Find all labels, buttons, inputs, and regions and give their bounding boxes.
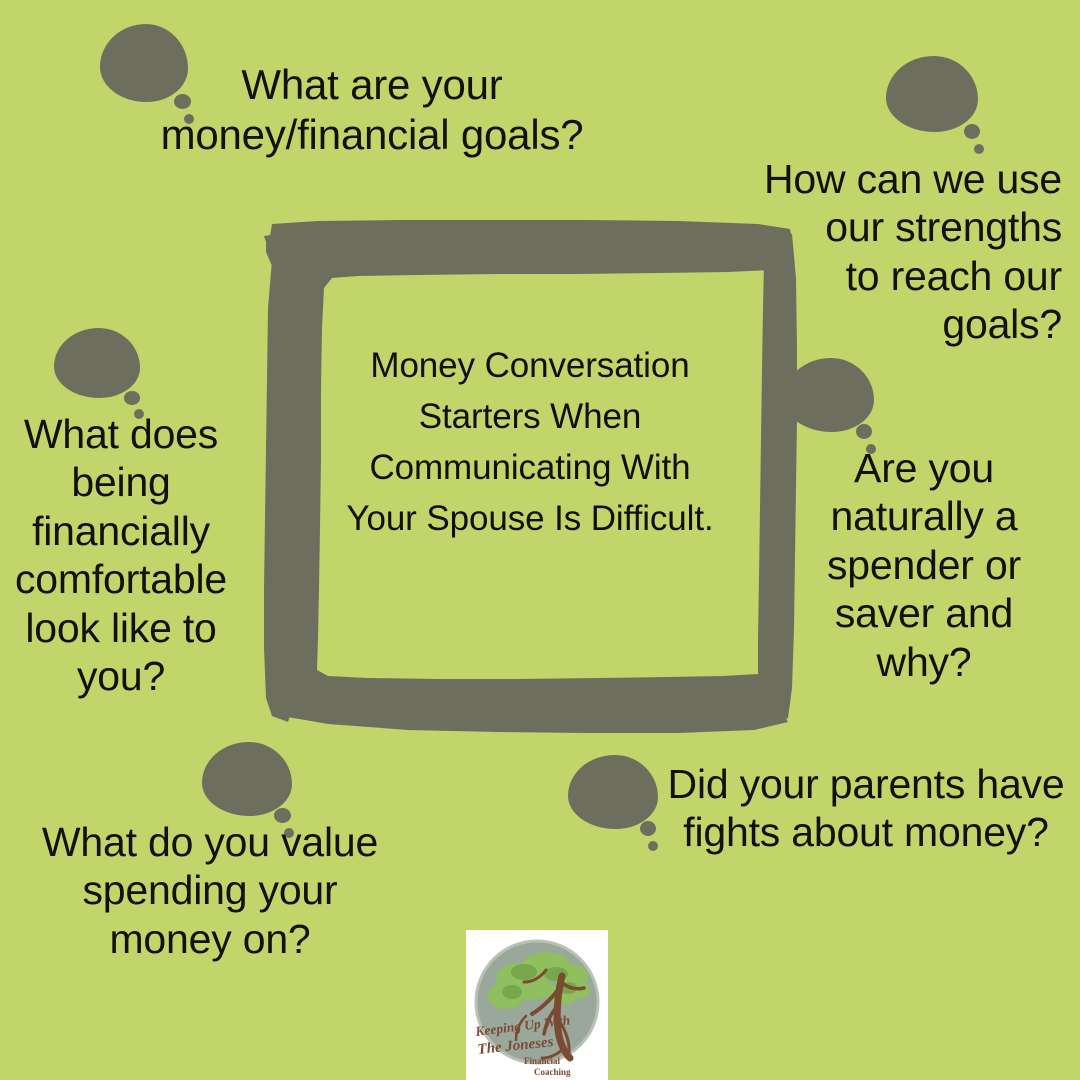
bubble-dot-large <box>964 124 980 139</box>
thought-bubble-3 <box>54 328 140 398</box>
logo-tagline-line1: Financial <box>524 1056 561 1066</box>
question-text-2: How can we use our strengths to reach ou… <box>740 155 1062 349</box>
poster-canvas: Money Conversation Starters When Communi… <box>0 0 1080 1080</box>
logo-tagline-line2: Coaching <box>534 1067 571 1077</box>
bubble-blob <box>202 742 292 816</box>
bubble-dot-large <box>124 391 140 405</box>
center-title: Money Conversation Starters When Communi… <box>330 340 730 544</box>
question-text-3: What does being financially comfortable … <box>6 410 236 700</box>
bubble-dot-small <box>974 144 984 154</box>
bubble-dot-large <box>856 424 872 439</box>
bubble-blob <box>886 56 978 132</box>
thought-bubble-5 <box>202 742 292 816</box>
bubble-dot-large <box>640 821 656 836</box>
thought-bubble-6 <box>568 755 658 829</box>
question-text-5: What do you value spending your money on… <box>10 818 410 963</box>
bubble-blob <box>568 755 658 829</box>
brand-logo: Keeping Up With The Joneses Financial Co… <box>466 930 608 1080</box>
question-text-6: Did your parents have fights about money… <box>660 760 1072 857</box>
thought-bubble-2 <box>886 56 978 132</box>
question-text-4: Are you naturally a spender or saver and… <box>806 444 1042 686</box>
bubble-blob <box>54 328 140 398</box>
question-text-1: What are your money/financial goals? <box>132 60 612 159</box>
bubble-dot-small <box>648 841 658 851</box>
